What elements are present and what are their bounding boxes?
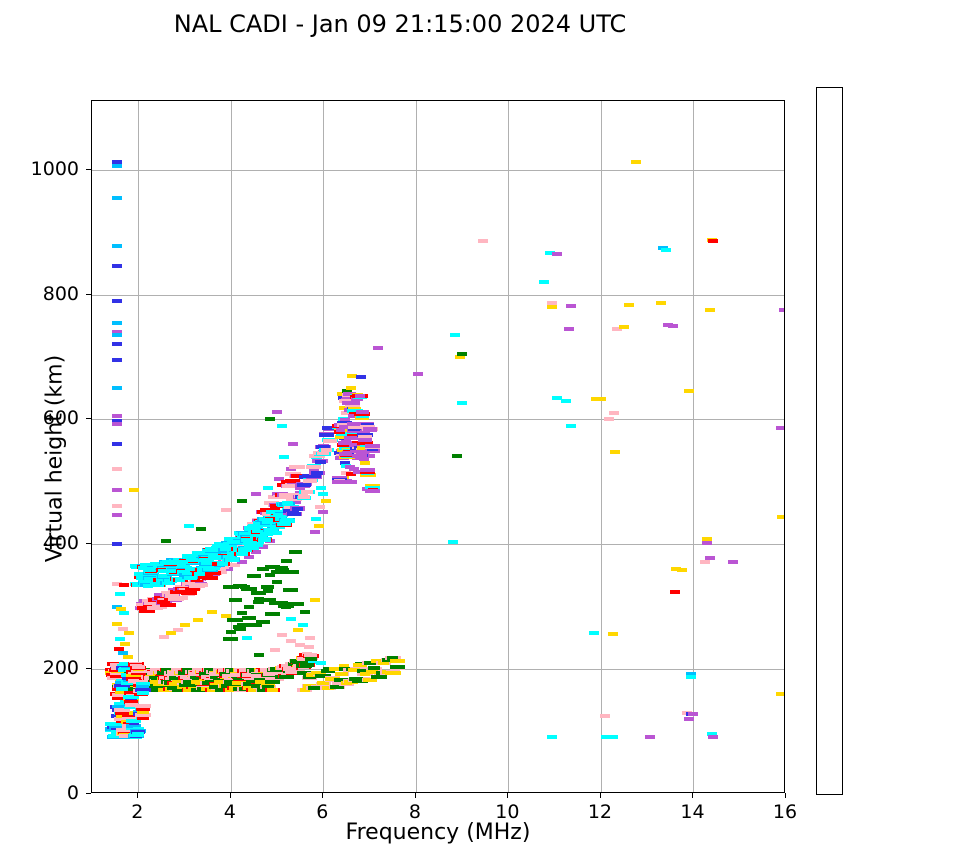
data-point [609, 411, 619, 415]
data-point [194, 583, 208, 587]
data-point [272, 410, 282, 414]
data-point [708, 239, 718, 243]
data-point [335, 672, 348, 676]
x-tick [137, 793, 138, 798]
data-point [247, 543, 263, 547]
x-tick-label: 4 [224, 801, 236, 823]
data-point [311, 517, 321, 521]
x-tick [415, 793, 416, 798]
data-point [297, 483, 311, 487]
data-point [668, 324, 678, 328]
grid-line-vertical [508, 101, 509, 792]
y-tick [86, 793, 91, 794]
data-point [120, 642, 130, 646]
data-point [705, 308, 715, 312]
data-point [323, 439, 337, 443]
data-point [547, 735, 557, 739]
data-point [293, 628, 303, 632]
data-point [263, 486, 273, 490]
data-point [184, 524, 194, 528]
data-point [267, 688, 277, 692]
data-point [230, 563, 240, 567]
data-point [112, 386, 122, 390]
data-point [261, 585, 274, 589]
data-point [244, 605, 254, 609]
x-tick [507, 793, 508, 798]
y-tick-label: 200 [13, 657, 79, 679]
y-tick [86, 543, 91, 544]
data-point [196, 527, 206, 531]
data-point [310, 530, 320, 534]
data-point [242, 616, 256, 620]
data-point [457, 401, 467, 405]
data-point [265, 680, 280, 684]
data-point [265, 573, 275, 577]
y-axis-label: Virtual height (km) [43, 259, 68, 659]
data-point [390, 665, 405, 669]
data-point [115, 592, 125, 596]
data-point [352, 454, 367, 458]
x-tick-label: 6 [316, 801, 328, 823]
data-point [271, 570, 282, 574]
data-point [566, 304, 576, 308]
data-point [608, 632, 618, 636]
data-point [318, 492, 328, 496]
data-point [115, 637, 125, 641]
data-point [608, 735, 618, 739]
data-point [207, 610, 217, 614]
data-point [112, 299, 122, 303]
x-tick-label: 2 [131, 801, 143, 823]
grid-line-vertical [693, 101, 694, 792]
grid-line-horizontal [92, 295, 784, 296]
data-point [112, 513, 122, 517]
data-point [256, 620, 270, 624]
data-point [288, 442, 298, 446]
y-tick-label: 1000 [13, 158, 79, 180]
data-point [315, 460, 326, 464]
x-tick [322, 793, 323, 798]
data-point [234, 627, 245, 631]
data-point [686, 675, 696, 679]
y-tick-label: 0 [13, 782, 79, 804]
data-point [671, 567, 681, 571]
data-point [301, 490, 313, 494]
data-point [777, 515, 785, 519]
data-point [272, 580, 282, 584]
data-point [112, 358, 122, 362]
y-tick [86, 169, 91, 170]
y-tick [86, 418, 91, 419]
data-point [708, 735, 718, 739]
data-point [180, 623, 190, 627]
data-point [547, 301, 557, 305]
data-point [661, 248, 671, 252]
data-point [288, 602, 304, 606]
data-point [347, 480, 357, 484]
data-point [277, 633, 287, 637]
data-point [112, 467, 122, 471]
data-point [684, 717, 694, 721]
data-point [112, 321, 122, 325]
data-point [776, 692, 785, 696]
data-point [332, 480, 347, 484]
x-axis-label: Frequency (MHz) [91, 820, 785, 845]
data-point [355, 394, 365, 398]
data-point [317, 681, 329, 685]
data-point [289, 550, 301, 554]
x-tick [785, 793, 786, 798]
data-point [631, 160, 641, 164]
data-point [194, 572, 205, 576]
data-point [225, 558, 240, 562]
data-point [161, 539, 171, 543]
data-point [300, 663, 315, 667]
data-point [124, 631, 134, 635]
data-point [283, 588, 298, 592]
data-point [135, 704, 151, 708]
data-point [450, 333, 460, 337]
data-point [112, 488, 122, 492]
data-point [600, 714, 610, 718]
data-point [137, 691, 149, 695]
data-point [776, 426, 785, 430]
data-point [227, 618, 243, 622]
data-point [289, 465, 305, 469]
data-point [223, 637, 238, 641]
data-point [345, 401, 360, 405]
data-point [112, 264, 122, 268]
data-point [119, 611, 129, 615]
data-point [413, 372, 423, 376]
data-point [316, 661, 326, 665]
data-point [160, 603, 176, 607]
data-point [266, 531, 282, 535]
data-point [702, 541, 712, 545]
data-point [300, 610, 310, 614]
data-point [310, 598, 320, 602]
y-tick [86, 294, 91, 295]
data-point [129, 488, 139, 492]
x-tick-label: 14 [680, 801, 704, 823]
data-point [275, 566, 288, 570]
plot-area [91, 100, 785, 793]
data-point [304, 653, 318, 657]
data-point [360, 461, 370, 465]
data-point [295, 643, 305, 647]
data-point [684, 389, 694, 393]
data-point [321, 448, 332, 452]
data-point [619, 325, 629, 329]
data-point [321, 499, 331, 503]
data-point [112, 442, 122, 446]
x-tick-label: 8 [409, 801, 421, 823]
data-point [119, 583, 129, 587]
data-point [385, 671, 401, 675]
y-tick [86, 668, 91, 669]
data-point [287, 512, 301, 516]
data-point [358, 438, 372, 442]
x-tick-label: 12 [588, 801, 612, 823]
data-point [596, 397, 606, 401]
ionogram-figure: NAL CADI - Jan 09 21:15:00 2024 UTC Freq… [0, 0, 958, 857]
data-point [236, 552, 248, 556]
data-point [265, 612, 281, 616]
data-point [123, 655, 133, 659]
data-point [315, 505, 325, 509]
data-point [193, 618, 203, 622]
data-point [254, 653, 264, 657]
data-point [363, 427, 377, 431]
x-tick [600, 793, 601, 798]
data-point [132, 665, 145, 669]
data-point [126, 719, 141, 723]
x-tick-label: 16 [773, 801, 797, 823]
data-point [656, 301, 666, 305]
data-point [373, 346, 383, 350]
data-point [282, 484, 295, 488]
data-point [478, 239, 488, 243]
data-point [298, 495, 309, 499]
data-point [251, 591, 266, 595]
data-point [728, 560, 738, 564]
data-point [670, 590, 680, 594]
data-point [306, 474, 321, 478]
data-point [123, 695, 139, 699]
data-point [452, 454, 462, 458]
data-point [292, 507, 304, 511]
data-point [604, 417, 614, 421]
grid-line-horizontal [92, 544, 784, 545]
data-point [279, 455, 289, 459]
colorbar[interactable] [816, 87, 843, 795]
data-point [645, 735, 655, 739]
x-tick-label: 10 [495, 801, 519, 823]
data-point [258, 538, 272, 542]
data-point [181, 591, 197, 595]
data-point [251, 492, 261, 496]
data-point [112, 244, 122, 248]
data-point [610, 450, 620, 454]
data-point [202, 576, 218, 580]
data-point [311, 471, 323, 475]
data-point [247, 574, 261, 578]
data-point [314, 524, 324, 528]
data-point [217, 562, 229, 566]
data-point [589, 631, 599, 635]
data-point [365, 444, 380, 448]
data-point [448, 540, 458, 544]
data-point [319, 433, 335, 437]
grid-line-vertical [601, 101, 602, 792]
data-point [112, 504, 122, 508]
data-point [112, 164, 122, 168]
data-point [112, 196, 122, 200]
y-tick-label: 600 [13, 407, 79, 429]
data-point [564, 327, 574, 331]
data-point [356, 375, 366, 379]
data-point [305, 657, 317, 661]
data-point [457, 352, 467, 356]
data-point [112, 333, 122, 337]
data-point [306, 465, 322, 469]
data-point [112, 342, 122, 346]
x-tick [692, 793, 693, 798]
data-point [277, 424, 287, 428]
data-point [316, 486, 326, 490]
data-point [265, 417, 275, 421]
data-point [242, 636, 252, 640]
data-point [112, 422, 122, 426]
data-point [552, 252, 562, 256]
data-point [221, 508, 231, 512]
data-point [112, 542, 122, 546]
data-point [270, 648, 280, 652]
data-point [700, 560, 710, 564]
data-point [356, 410, 368, 414]
data-point [173, 596, 188, 600]
data-point [390, 659, 406, 663]
data-point [566, 424, 576, 428]
data-point [298, 623, 308, 627]
data-point [305, 636, 315, 640]
data-point [371, 675, 386, 679]
data-point [346, 386, 356, 390]
y-tick-label: 800 [13, 283, 79, 305]
data-point [132, 732, 144, 736]
data-point [114, 708, 130, 712]
data-point [283, 570, 298, 574]
data-point [286, 617, 296, 621]
data-point [318, 510, 328, 514]
data-point [561, 399, 571, 403]
data-point [237, 499, 247, 503]
page-title: NAL CADI - Jan 09 21:15:00 2024 UTC [0, 10, 800, 38]
data-point [547, 305, 557, 309]
data-point [539, 280, 549, 284]
grid-line-horizontal [92, 419, 784, 420]
x-tick [230, 793, 231, 798]
data-point [281, 559, 293, 563]
y-tick-label: 400 [13, 532, 79, 554]
data-point [280, 519, 295, 523]
data-point [624, 303, 634, 307]
grid-line-vertical [416, 101, 417, 792]
data-point [360, 468, 376, 472]
data-point [159, 635, 169, 639]
data-point [237, 611, 247, 615]
data-point [779, 308, 785, 312]
data-point [688, 712, 698, 716]
data-point [229, 598, 242, 602]
grid-line-horizontal [92, 170, 784, 171]
data-point [365, 489, 380, 493]
